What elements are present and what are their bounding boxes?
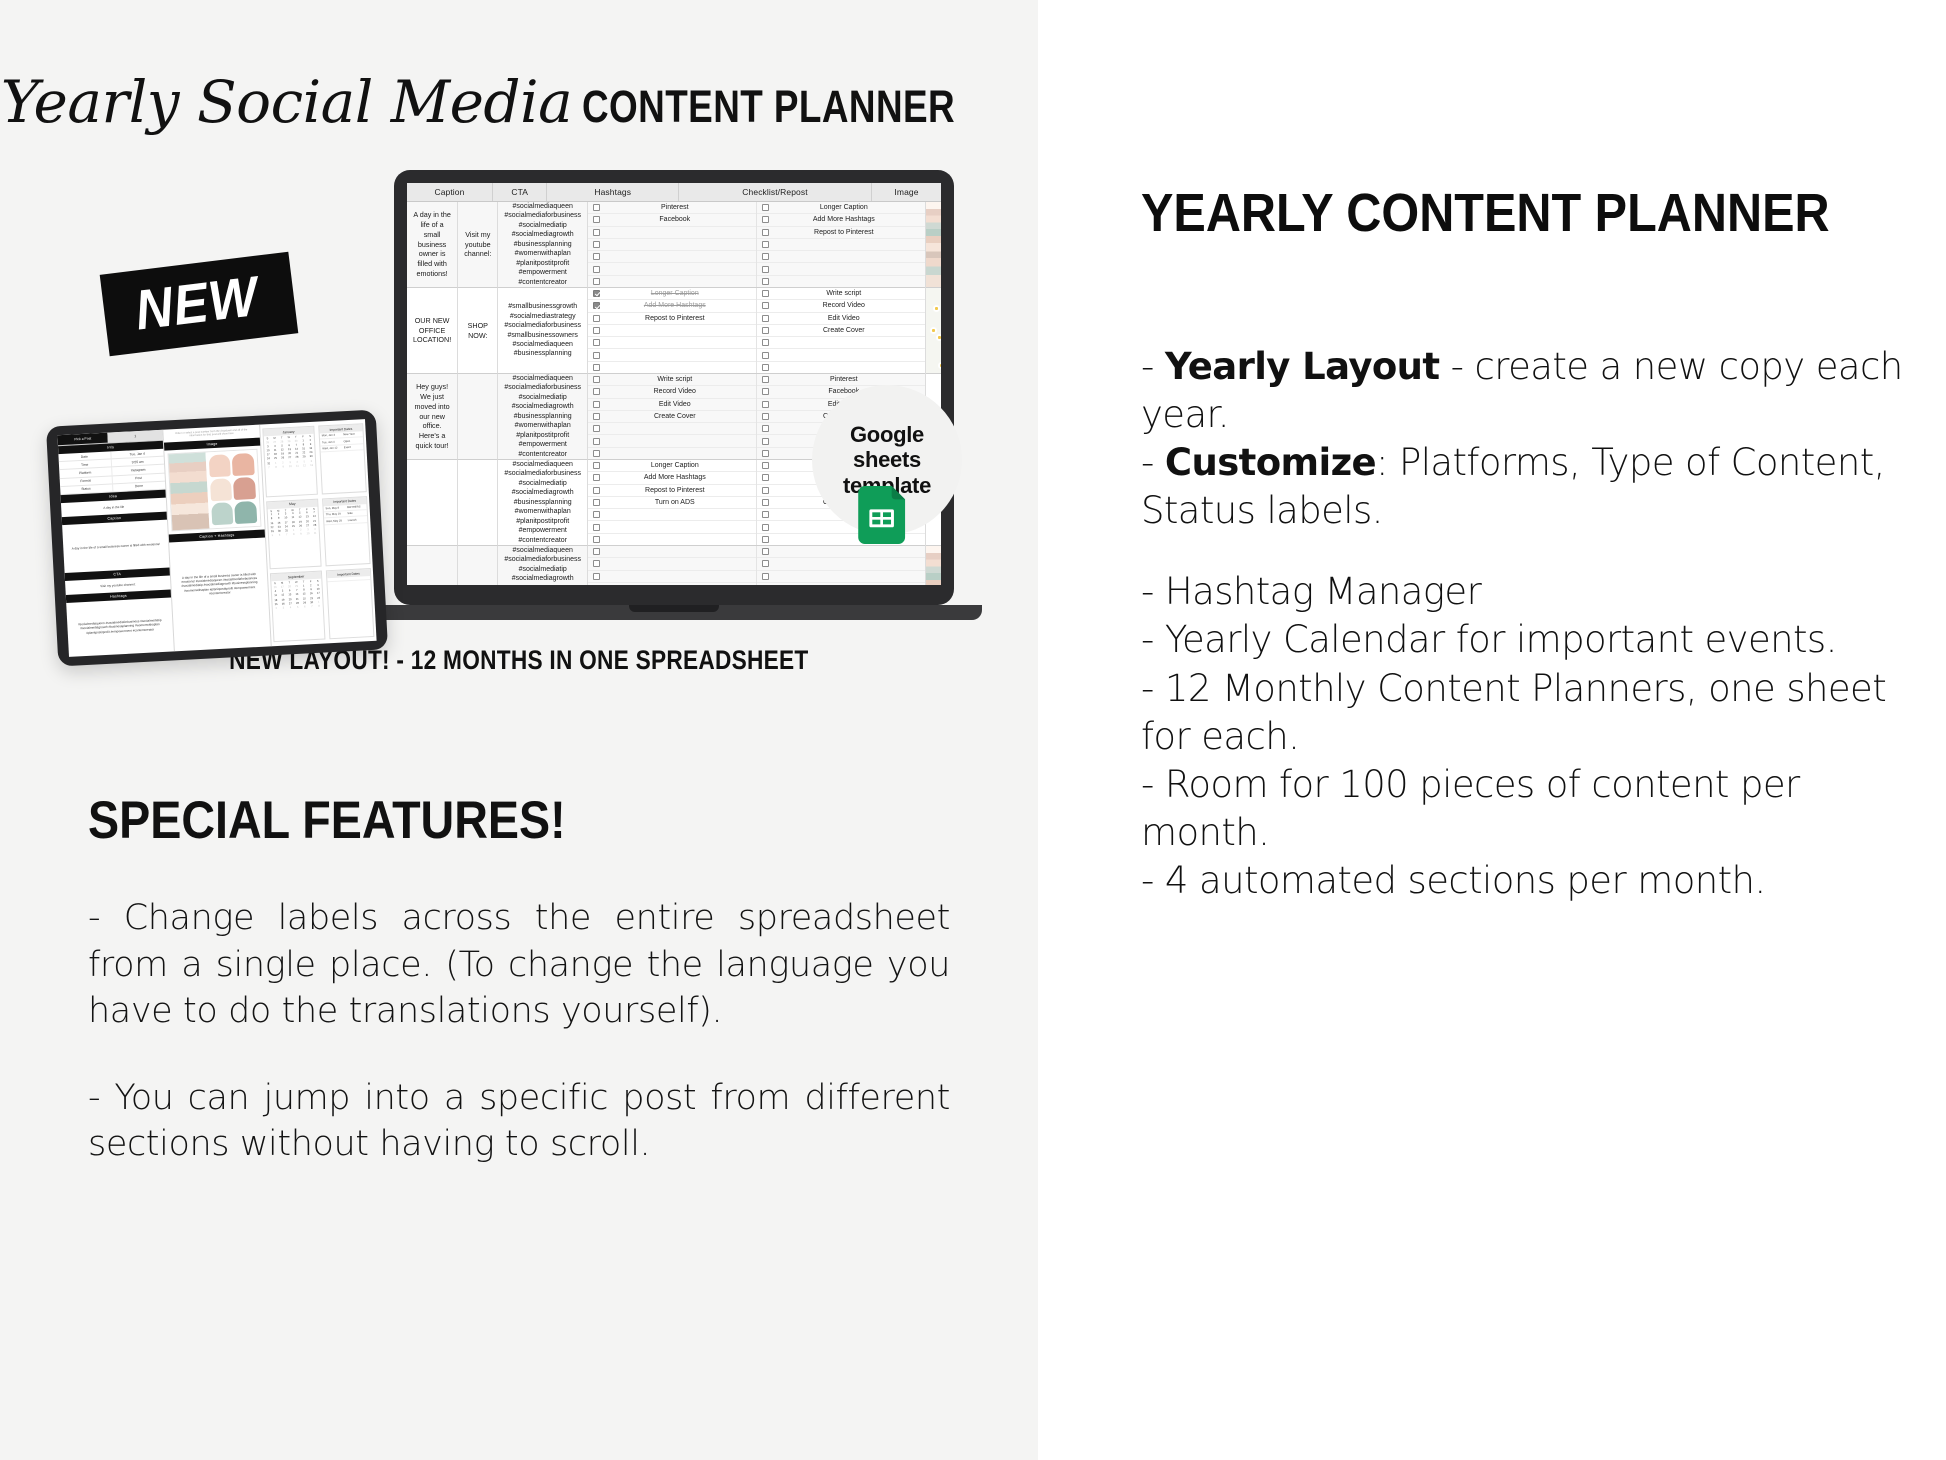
- checklist-group: [588, 546, 925, 585]
- stripes-art: [926, 202, 941, 287]
- image-column: 🧳🌿👜🕶★★★★★: [926, 202, 941, 585]
- checklist-label: Edit Video: [769, 315, 926, 322]
- checklist-row[interactable]: [588, 239, 756, 251]
- rating-stars: ★★★★★: [940, 519, 941, 530]
- checkbox[interactable]: [762, 438, 769, 445]
- checklist-row[interactable]: [588, 251, 756, 263]
- checklist-row[interactable]: [588, 276, 756, 287]
- checkbox[interactable]: [593, 352, 600, 359]
- feature-group-1: - Yearly Layout - create a new copy each…: [1141, 343, 1906, 535]
- image-thumbnail: [926, 546, 941, 585]
- feature-item-bold: Customize: [1165, 441, 1376, 484]
- column-header-caption: Caption: [407, 183, 493, 201]
- checklist-row[interactable]: Write script: [588, 374, 756, 386]
- caption-cell[interactable]: Hey guys! We just moved into our new off…: [407, 374, 458, 460]
- checklist-row[interactable]: [757, 571, 926, 583]
- daisy-icon: [933, 305, 940, 312]
- checkbox[interactable]: [593, 548, 600, 555]
- important-date-row: Wed, May 25Launch: [324, 517, 367, 526]
- checkbox[interactable]: [762, 339, 769, 346]
- checklist-row[interactable]: [588, 583, 756, 585]
- checkbox[interactable]: [762, 216, 769, 223]
- checklist-group: PinterestFacebookLonger CaptionAdd More …: [588, 202, 925, 288]
- hashtags-cell[interactable]: #socialmediaqueen #socialmediaforbusines…: [498, 374, 588, 460]
- tablet-calendar-row: MaySMTWTFS123456789101112131415161718192…: [266, 496, 370, 570]
- right-panel: YEARLY CONTENT PLANNER - Yearly Layout -…: [1038, 0, 1946, 1460]
- tablet-hashtags-text: #socialmediaqueen #socialmediaforbusines…: [66, 597, 173, 640]
- checkbox[interactable]: [593, 573, 600, 580]
- checkbox[interactable]: [593, 524, 600, 531]
- tablet-caption-hashtags-text: A day in the life of a small business ow…: [169, 537, 268, 603]
- checklist-row[interactable]: Edit Video: [588, 399, 756, 411]
- checklist-row[interactable]: Longer Caption: [757, 202, 926, 214]
- page-title-bold: CONTENT PLANNER: [582, 81, 955, 133]
- checklist-row[interactable]: [588, 558, 756, 570]
- checklist-half: Write scriptRecord VideoEdit VideoCreate…: [757, 288, 926, 373]
- important-dates-panel: Important DatesSun, May 8MOTHERSThu, May…: [322, 496, 371, 567]
- checkbox[interactable]: [593, 536, 600, 543]
- calendar-day-dim: 13: [308, 463, 315, 468]
- caption-cell[interactable]: OUR NEW OFFICE LOCATION!: [407, 288, 458, 374]
- hashtags-cell[interactable]: #socialmediaqueen #socialmediaforbusines…: [498, 546, 588, 585]
- checklist-row[interactable]: Facebook: [588, 214, 756, 226]
- checklist-label: Turn on ADS: [600, 499, 756, 506]
- page-title-script: Yearly Social Media: [1, 68, 572, 136]
- cta-cell[interactable]: [458, 460, 498, 546]
- checklist-row[interactable]: [588, 571, 756, 583]
- spreadsheet-header-row: Caption CTA Hashtags Checklist/Repost Im…: [407, 183, 941, 202]
- important-date: Wed, Jan 12: [320, 445, 342, 451]
- checklist-row[interactable]: [588, 423, 756, 435]
- tablet-calendars: JanuarySMTWTFS26272829301234567891011121…: [260, 419, 376, 646]
- checklist-label: Longer Caption: [769, 204, 926, 211]
- checkbox[interactable]: [762, 388, 769, 395]
- checklist-row[interactable]: [588, 435, 756, 447]
- checklist-half: Longer CaptionAdd More HashtagsRepost to…: [588, 460, 757, 545]
- checklist-row[interactable]: Edit Video: [757, 313, 926, 325]
- important-date: Wed, May 25: [324, 518, 346, 524]
- checklist-row[interactable]: Write script: [757, 288, 926, 300]
- checklist-row[interactable]: Longer Caption: [588, 460, 756, 472]
- tablet-info-table: DateTue, Jan 4Time9:55 amPlatformInstagr…: [58, 449, 165, 495]
- checklist-row[interactable]: [588, 349, 756, 361]
- right-panel-title-text: YEARLY CONTENT PLANNER: [1141, 182, 1830, 244]
- column-header-cta: CTA: [493, 183, 548, 201]
- checklist-row[interactable]: [757, 362, 926, 373]
- calendar-days: 2627282912345678910111213141516171819202…: [272, 583, 325, 641]
- cta-cell[interactable]: [458, 374, 498, 460]
- hashtags-cell[interactable]: #smallbusinessgrowth #socialmediastrateg…: [498, 288, 588, 374]
- important-event: [349, 576, 371, 579]
- checklist-row[interactable]: [757, 349, 926, 361]
- image-cell[interactable]: [926, 546, 941, 585]
- checklist-label: Repost to Pinterest: [600, 315, 756, 322]
- hashtags-cell[interactable]: #socialmediaqueen #socialmediaforbusines…: [498, 460, 588, 546]
- checkbox[interactable]: [762, 560, 769, 567]
- image-thumbnail: [926, 288, 941, 373]
- checklist-label: Add More Hashtags: [600, 474, 756, 481]
- checklist-label: Facebook: [600, 216, 756, 223]
- checkbox[interactable]: [762, 548, 769, 555]
- special-features-paragraph-1: - Change labels across the entire spread…: [88, 895, 950, 1035]
- checklist-row[interactable]: Repost to Pinterest: [757, 227, 926, 239]
- checkbox[interactable]: [762, 352, 769, 359]
- checkbox[interactable]: [593, 327, 600, 334]
- checkbox[interactable]: [593, 376, 600, 383]
- important-date-row: Wed, Jan 12Event: [320, 444, 363, 453]
- tablet-calendar: MaySMTWTFS123456789101112131415161718192…: [266, 498, 321, 569]
- checklist-row[interactable]: [757, 239, 926, 251]
- checklist-row[interactable]: [588, 534, 756, 545]
- feature-list-item: - 4 automated sections per month.: [1141, 857, 1906, 905]
- feature-list-item: - 12 Monthly Content Planners, one sheet…: [1141, 665, 1906, 761]
- checklist-row[interactable]: [588, 325, 756, 337]
- checkbox[interactable]: [762, 474, 769, 481]
- checklist-half: PinterestFacebook: [588, 202, 757, 287]
- image-thumbnail: [926, 202, 941, 287]
- checklist-row[interactable]: [588, 227, 756, 239]
- checklist-label: Edit Video: [600, 401, 756, 408]
- checklist-label: Add More Hashtags: [600, 302, 756, 309]
- important-date: [327, 578, 349, 581]
- checklist-row[interactable]: [588, 337, 756, 349]
- checkbox[interactable]: [593, 364, 600, 371]
- checklist-row[interactable]: [588, 521, 756, 533]
- checkbox[interactable]: [593, 560, 600, 567]
- tablet-middle-column: Enter or select a post number from the d…: [163, 425, 271, 652]
- checklist-label: Add More Hashtags: [769, 216, 926, 223]
- checklist-row[interactable]: Repost to Pinterest: [588, 313, 756, 325]
- arch-shape: [210, 478, 233, 501]
- checkbox[interactable]: [762, 425, 769, 432]
- checklist-row[interactable]: [757, 583, 926, 585]
- important-dates-panel: Important Dates: [326, 568, 375, 639]
- important-event: Event: [342, 444, 364, 450]
- checklist-half: [588, 546, 757, 585]
- checkbox[interactable]: [762, 241, 769, 248]
- checklist-row[interactable]: [588, 362, 756, 373]
- checklist-row[interactable]: [588, 263, 756, 275]
- laptop-notch: [629, 605, 719, 612]
- checkbox[interactable]: [593, 388, 600, 395]
- checklist-half: [757, 546, 926, 585]
- google-sheets-icon: [858, 486, 912, 544]
- tablet-mid-space: [172, 598, 270, 652]
- special-features-paragraph-2: - You can jump into a specific post from…: [88, 1075, 950, 1168]
- checkbox[interactable]: [593, 302, 600, 309]
- checkbox[interactable]: [762, 401, 769, 408]
- checklist-row[interactable]: [757, 546, 926, 558]
- checklist-row[interactable]: [757, 558, 926, 570]
- google-sheets-line-1: Google: [843, 422, 931, 448]
- poster-canvas: Yearly Social MediaCONTENT PLANNER Capti…: [0, 0, 1946, 1460]
- checkbox[interactable]: [593, 253, 600, 260]
- checklist-label: Create Cover: [600, 413, 756, 420]
- checklist-row[interactable]: [757, 251, 926, 263]
- arch-shape: [232, 453, 255, 476]
- checkbox[interactable]: [762, 573, 769, 580]
- checklist-row[interactable]: [757, 263, 926, 275]
- cta-column: Visit my youtube channel:SHOP NOW:: [458, 202, 498, 585]
- checklist-label: Repost to Pinterest: [769, 229, 926, 236]
- cta-cell[interactable]: [458, 546, 498, 585]
- checklist-label: Repost to Pinterest: [600, 487, 756, 494]
- column-header-checklist: Checklist/Repost: [679, 183, 872, 201]
- image-cell[interactable]: [926, 288, 941, 374]
- tablet-image-stripes: [169, 452, 210, 530]
- checkbox[interactable]: [593, 425, 600, 432]
- feature-list-item: - Yearly Calendar for important events.: [1141, 616, 1906, 664]
- checklist-label: Pinterest: [600, 204, 756, 211]
- checkbox[interactable]: [593, 413, 600, 420]
- left-panel: Yearly Social MediaCONTENT PLANNER Capti…: [0, 0, 1038, 1460]
- checklist-label: Longer Caption: [600, 290, 756, 297]
- calendar-day-dim: 11: [312, 531, 319, 536]
- checklist-row[interactable]: Create Cover: [757, 325, 926, 337]
- arch-shape: [211, 502, 234, 525]
- checkbox[interactable]: [762, 462, 769, 469]
- feature-list-item: - Hashtag Manager: [1141, 568, 1906, 616]
- checkbox[interactable]: [593, 229, 600, 236]
- checkbox[interactable]: [762, 524, 769, 531]
- checkbox[interactable]: [593, 462, 600, 469]
- checklist-row[interactable]: Record Video: [757, 300, 926, 312]
- feature-list-item: - Yearly Layout - create a new copy each…: [1141, 343, 1906, 439]
- checklist-label: Record Video: [769, 302, 926, 309]
- arch-shape: [233, 477, 256, 500]
- checklist-row[interactable]: Pinterest: [588, 202, 756, 214]
- checklist-label: Write script: [769, 290, 926, 297]
- special-features-section: SPECIAL FEATURES! - Change labels across…: [88, 790, 950, 1168]
- feature-list-item: - Room for 100 pieces of content per mon…: [1141, 761, 1906, 857]
- cta-cell[interactable]: Visit my youtube channel:: [458, 202, 498, 288]
- tablet-image-preview: [167, 448, 261, 531]
- checkbox[interactable]: [762, 413, 769, 420]
- checklist-row[interactable]: Longer Caption: [588, 288, 756, 300]
- checkbox[interactable]: [762, 487, 769, 494]
- checkbox[interactable]: [593, 450, 600, 457]
- checkbox[interactable]: [762, 204, 769, 211]
- checkbox[interactable]: [593, 216, 600, 223]
- special-features-title: SPECIAL FEATURES!: [88, 790, 950, 851]
- calendar-days: 2627282930123456789101112131415161718192…: [264, 438, 317, 496]
- daisy-icon: [936, 334, 941, 341]
- checklist-row[interactable]: [588, 448, 756, 459]
- checkbox[interactable]: [762, 278, 769, 285]
- checklist-row[interactable]: Add More Hashtags: [757, 214, 926, 226]
- column-header-image: Image: [872, 183, 941, 201]
- tablet-frame: Pick a Post 1 Info DateTue, Jan 4Time9:5…: [46, 410, 388, 667]
- checkbox[interactable]: [593, 487, 600, 494]
- checklist-label: Longer Caption: [600, 462, 756, 469]
- caption-cell[interactable]: [407, 546, 458, 585]
- new-badge: NEW: [100, 252, 298, 357]
- checklist-row[interactable]: Turn on ADS: [588, 497, 756, 509]
- checkbox[interactable]: [762, 327, 769, 334]
- checklist-row[interactable]: [757, 276, 926, 287]
- right-panel-title: YEARLY CONTENT PLANNER: [1141, 182, 1906, 244]
- column-header-hashtags: Hashtags: [547, 183, 679, 201]
- calendar-day-dim: 8: [315, 604, 322, 609]
- checklist-row[interactable]: [588, 509, 756, 521]
- checklist-row[interactable]: [757, 337, 926, 349]
- checkbox[interactable]: [593, 278, 600, 285]
- checkbox[interactable]: [593, 474, 600, 481]
- important-event: Launch: [346, 517, 368, 523]
- checklist-row[interactable]: [588, 546, 756, 558]
- daisy-icon: [930, 327, 937, 334]
- checklist-row[interactable]: Create Cover: [588, 411, 756, 423]
- checklist-half: Longer CaptionAdd More HashtagsRepost to…: [757, 202, 926, 287]
- checkbox[interactable]: [762, 315, 769, 322]
- checkbox[interactable]: [593, 401, 600, 408]
- checkbox[interactable]: [762, 302, 769, 309]
- checkbox[interactable]: [762, 450, 769, 457]
- checkbox[interactable]: [593, 290, 600, 297]
- checkbox[interactable]: [593, 315, 600, 322]
- caption-column: A day in the life of a small business ow…: [407, 202, 458, 585]
- special-features-title-text: SPECIAL FEATURES!: [88, 790, 566, 851]
- checklist-row[interactable]: Record Video: [588, 386, 756, 398]
- right-panel-feature-list: - Yearly Layout - create a new copy each…: [1141, 343, 1906, 905]
- checkbox[interactable]: [762, 499, 769, 506]
- tablet-calendar-row: SeptemberSMTWTFS262728291234567891011121…: [270, 568, 374, 642]
- checkbox[interactable]: [593, 266, 600, 273]
- checkbox[interactable]: [762, 511, 769, 518]
- checkbox[interactable]: [762, 266, 769, 273]
- important-dates-panel: Important DatesMon, Jan 3New YearTue, Ja…: [318, 423, 367, 494]
- checkbox[interactable]: [593, 241, 600, 248]
- page-title: Yearly Social MediaCONTENT PLANNER: [0, 68, 1038, 136]
- daisy-icon: [938, 362, 941, 369]
- checklist-row[interactable]: Pinterest: [757, 374, 926, 386]
- checkbox[interactable]: [593, 511, 600, 518]
- feature-list-item: - Customize: Platforms, Type of Content,…: [1141, 439, 1906, 535]
- checklist-row[interactable]: Repost to Pinterest: [588, 485, 756, 497]
- tablet-calendar: SeptemberSMTWTFS262728291234567891011121…: [270, 571, 325, 642]
- tablet-mockup: Pick a Post 1 Info DateTue, Jan 4Time9:5…: [46, 410, 388, 667]
- arch-shape: [209, 454, 232, 477]
- feature-group-gap: [1141, 535, 1906, 568]
- tablet-calendar: JanuarySMTWTFS26272829301234567891011121…: [262, 426, 317, 497]
- arch-shape: [235, 501, 258, 524]
- checkbox[interactable]: [593, 438, 600, 445]
- hashtags-cell[interactable]: #socialmediaqueen #socialmediaforbusines…: [498, 202, 588, 288]
- checkbox[interactable]: [762, 253, 769, 260]
- tablet-calendar-row: JanuarySMTWTFS26272829301234567891011121…: [262, 423, 366, 497]
- checkbox[interactable]: [593, 204, 600, 211]
- checklist-label: Write script: [600, 376, 756, 383]
- checkbox[interactable]: [762, 376, 769, 383]
- checklist-row[interactable]: Add More Hashtags: [588, 472, 756, 484]
- checklist-row[interactable]: Add More Hashtags: [588, 300, 756, 312]
- tablet-right-column: JanuarySMTWTFS26272829301234567891011121…: [260, 419, 376, 646]
- checkbox[interactable]: [762, 536, 769, 543]
- cta-cell[interactable]: SHOP NOW:: [458, 288, 498, 374]
- tablet-screen: Pick a Post 1 Info DateTue, Jan 4Time9:5…: [57, 419, 376, 657]
- checklist-label: Pinterest: [769, 376, 926, 383]
- tablet-left-column: Pick a Post 1 Info DateTue, Jan 4Time9:5…: [57, 430, 174, 657]
- checklist-label: Create Cover: [769, 327, 926, 334]
- tablet-image-arches: [205, 450, 260, 529]
- stripes-art: [926, 546, 941, 585]
- checklist-half: Write scriptRecord VideoEdit VideoCreate…: [588, 374, 757, 459]
- caption-cell[interactable]: A day in the life of a small business ow…: [407, 202, 458, 288]
- checkbox[interactable]: [762, 229, 769, 236]
- feature-item-bold: Yearly Layout: [1165, 345, 1440, 388]
- caption-cell[interactable]: [407, 460, 458, 546]
- checkbox[interactable]: [762, 364, 769, 371]
- checkbox[interactable]: [762, 290, 769, 297]
- feature-group-2: - Hashtag Manager- Yearly Calendar for i…: [1141, 568, 1906, 905]
- google-sheets-line-2: sheets: [843, 447, 931, 473]
- hashtags-column: #socialmediaqueen #socialmediaforbusines…: [498, 202, 588, 585]
- checklist-half: Longer CaptionAdd More HashtagsRepost to…: [588, 288, 757, 373]
- checkbox[interactable]: [593, 339, 600, 346]
- checklist-label: Record Video: [600, 388, 756, 395]
- checkbox[interactable]: [593, 499, 600, 506]
- image-cell[interactable]: [926, 202, 941, 288]
- checklist-group: Longer CaptionAdd More HashtagsRepost to…: [588, 288, 925, 374]
- new-badge-label: NEW: [132, 268, 261, 339]
- calendar-days: 1234567891011121314151617181920212223242…: [268, 510, 321, 568]
